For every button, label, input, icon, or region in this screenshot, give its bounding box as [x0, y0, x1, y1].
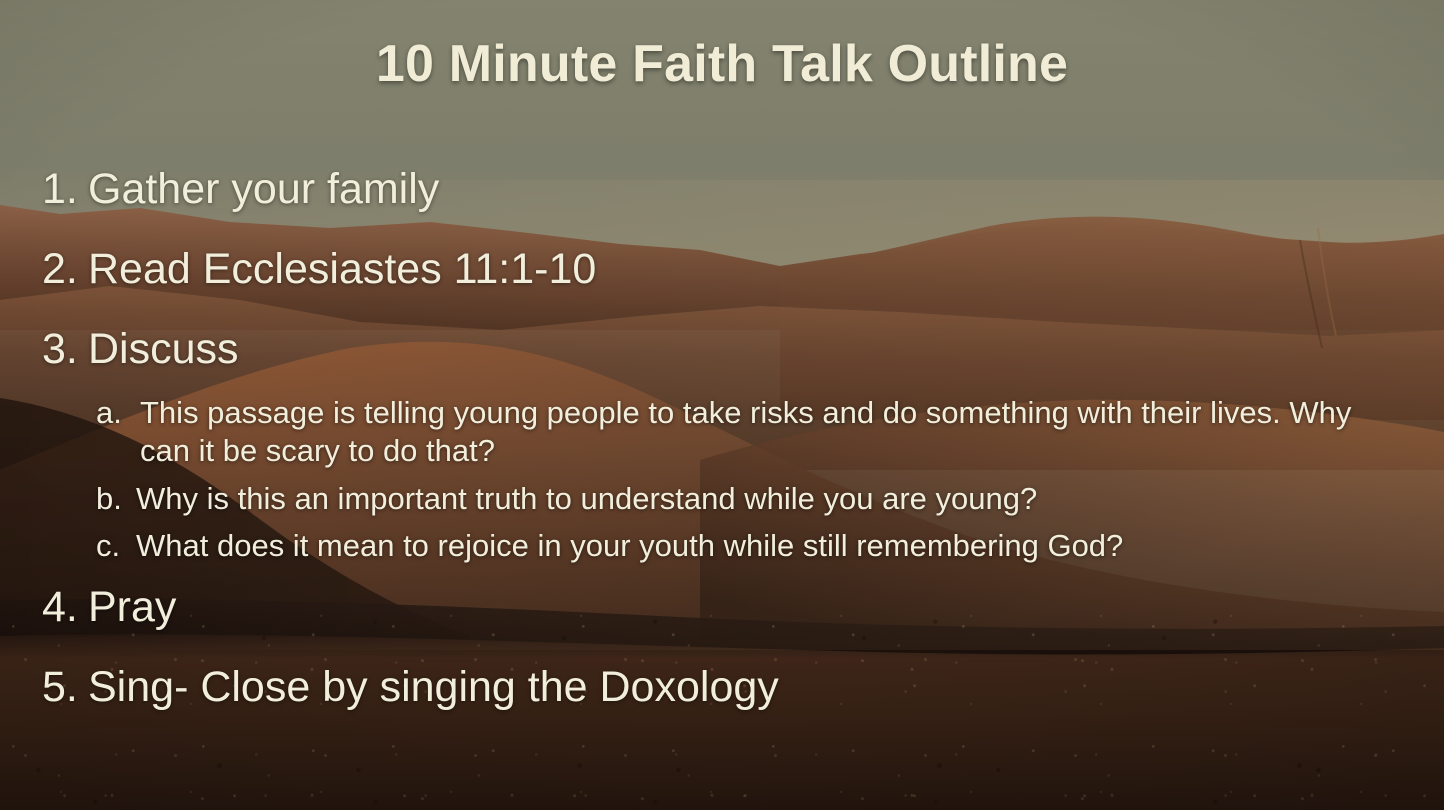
- list-item: 4. Pray: [42, 586, 1404, 629]
- list-item-text: Gather your family: [88, 168, 1404, 211]
- presentation-slide: 10 Minute Faith Talk Outline 1. Gather y…: [0, 0, 1444, 810]
- list-marker: 3.: [42, 328, 88, 371]
- list-marker: 4.: [42, 586, 88, 629]
- page-title: 10 Minute Faith Talk Outline: [0, 34, 1444, 94]
- list-item-text: Discuss: [88, 328, 1404, 371]
- sublist-item-text: What does it mean to rejoice in your you…: [136, 527, 1384, 565]
- sublist-item-text: Why is this an important truth to unders…: [136, 480, 1384, 518]
- list-marker: 1.: [42, 168, 88, 211]
- sublist-item: c. What does it mean to rejoice in your …: [96, 527, 1404, 565]
- list-item-text: Read Ecclesiastes 11:1-10: [88, 248, 1404, 291]
- list-item: 2. Read Ecclesiastes 11:1-10: [42, 248, 1404, 291]
- list-item: 3. Discuss: [42, 328, 1404, 371]
- sublist-marker: c.: [96, 527, 136, 565]
- list-marker: 5.: [42, 666, 88, 709]
- slide-content: 10 Minute Faith Talk Outline 1. Gather y…: [0, 0, 1444, 810]
- list-item: 5. Sing- Close by singing the Doxology: [42, 666, 1404, 709]
- sublist-item-text: This passage is telling young people to …: [140, 394, 1388, 471]
- list-item: 1. Gather your family: [42, 168, 1404, 211]
- outline-list: 1. Gather your family 2. Read Ecclesiast…: [42, 168, 1404, 746]
- list-marker: 2.: [42, 248, 88, 291]
- sublist-marker: a.: [96, 394, 140, 432]
- sublist-item: a. This passage is telling young people …: [96, 394, 1404, 471]
- list-item-text: Pray: [88, 586, 1404, 629]
- sublist-discuss: a. This passage is telling young people …: [96, 394, 1404, 566]
- sublist-marker: b.: [96, 480, 136, 518]
- sublist-item: b. Why is this an important truth to und…: [96, 480, 1404, 518]
- list-item-text: Sing- Close by singing the Doxology: [88, 666, 1404, 709]
